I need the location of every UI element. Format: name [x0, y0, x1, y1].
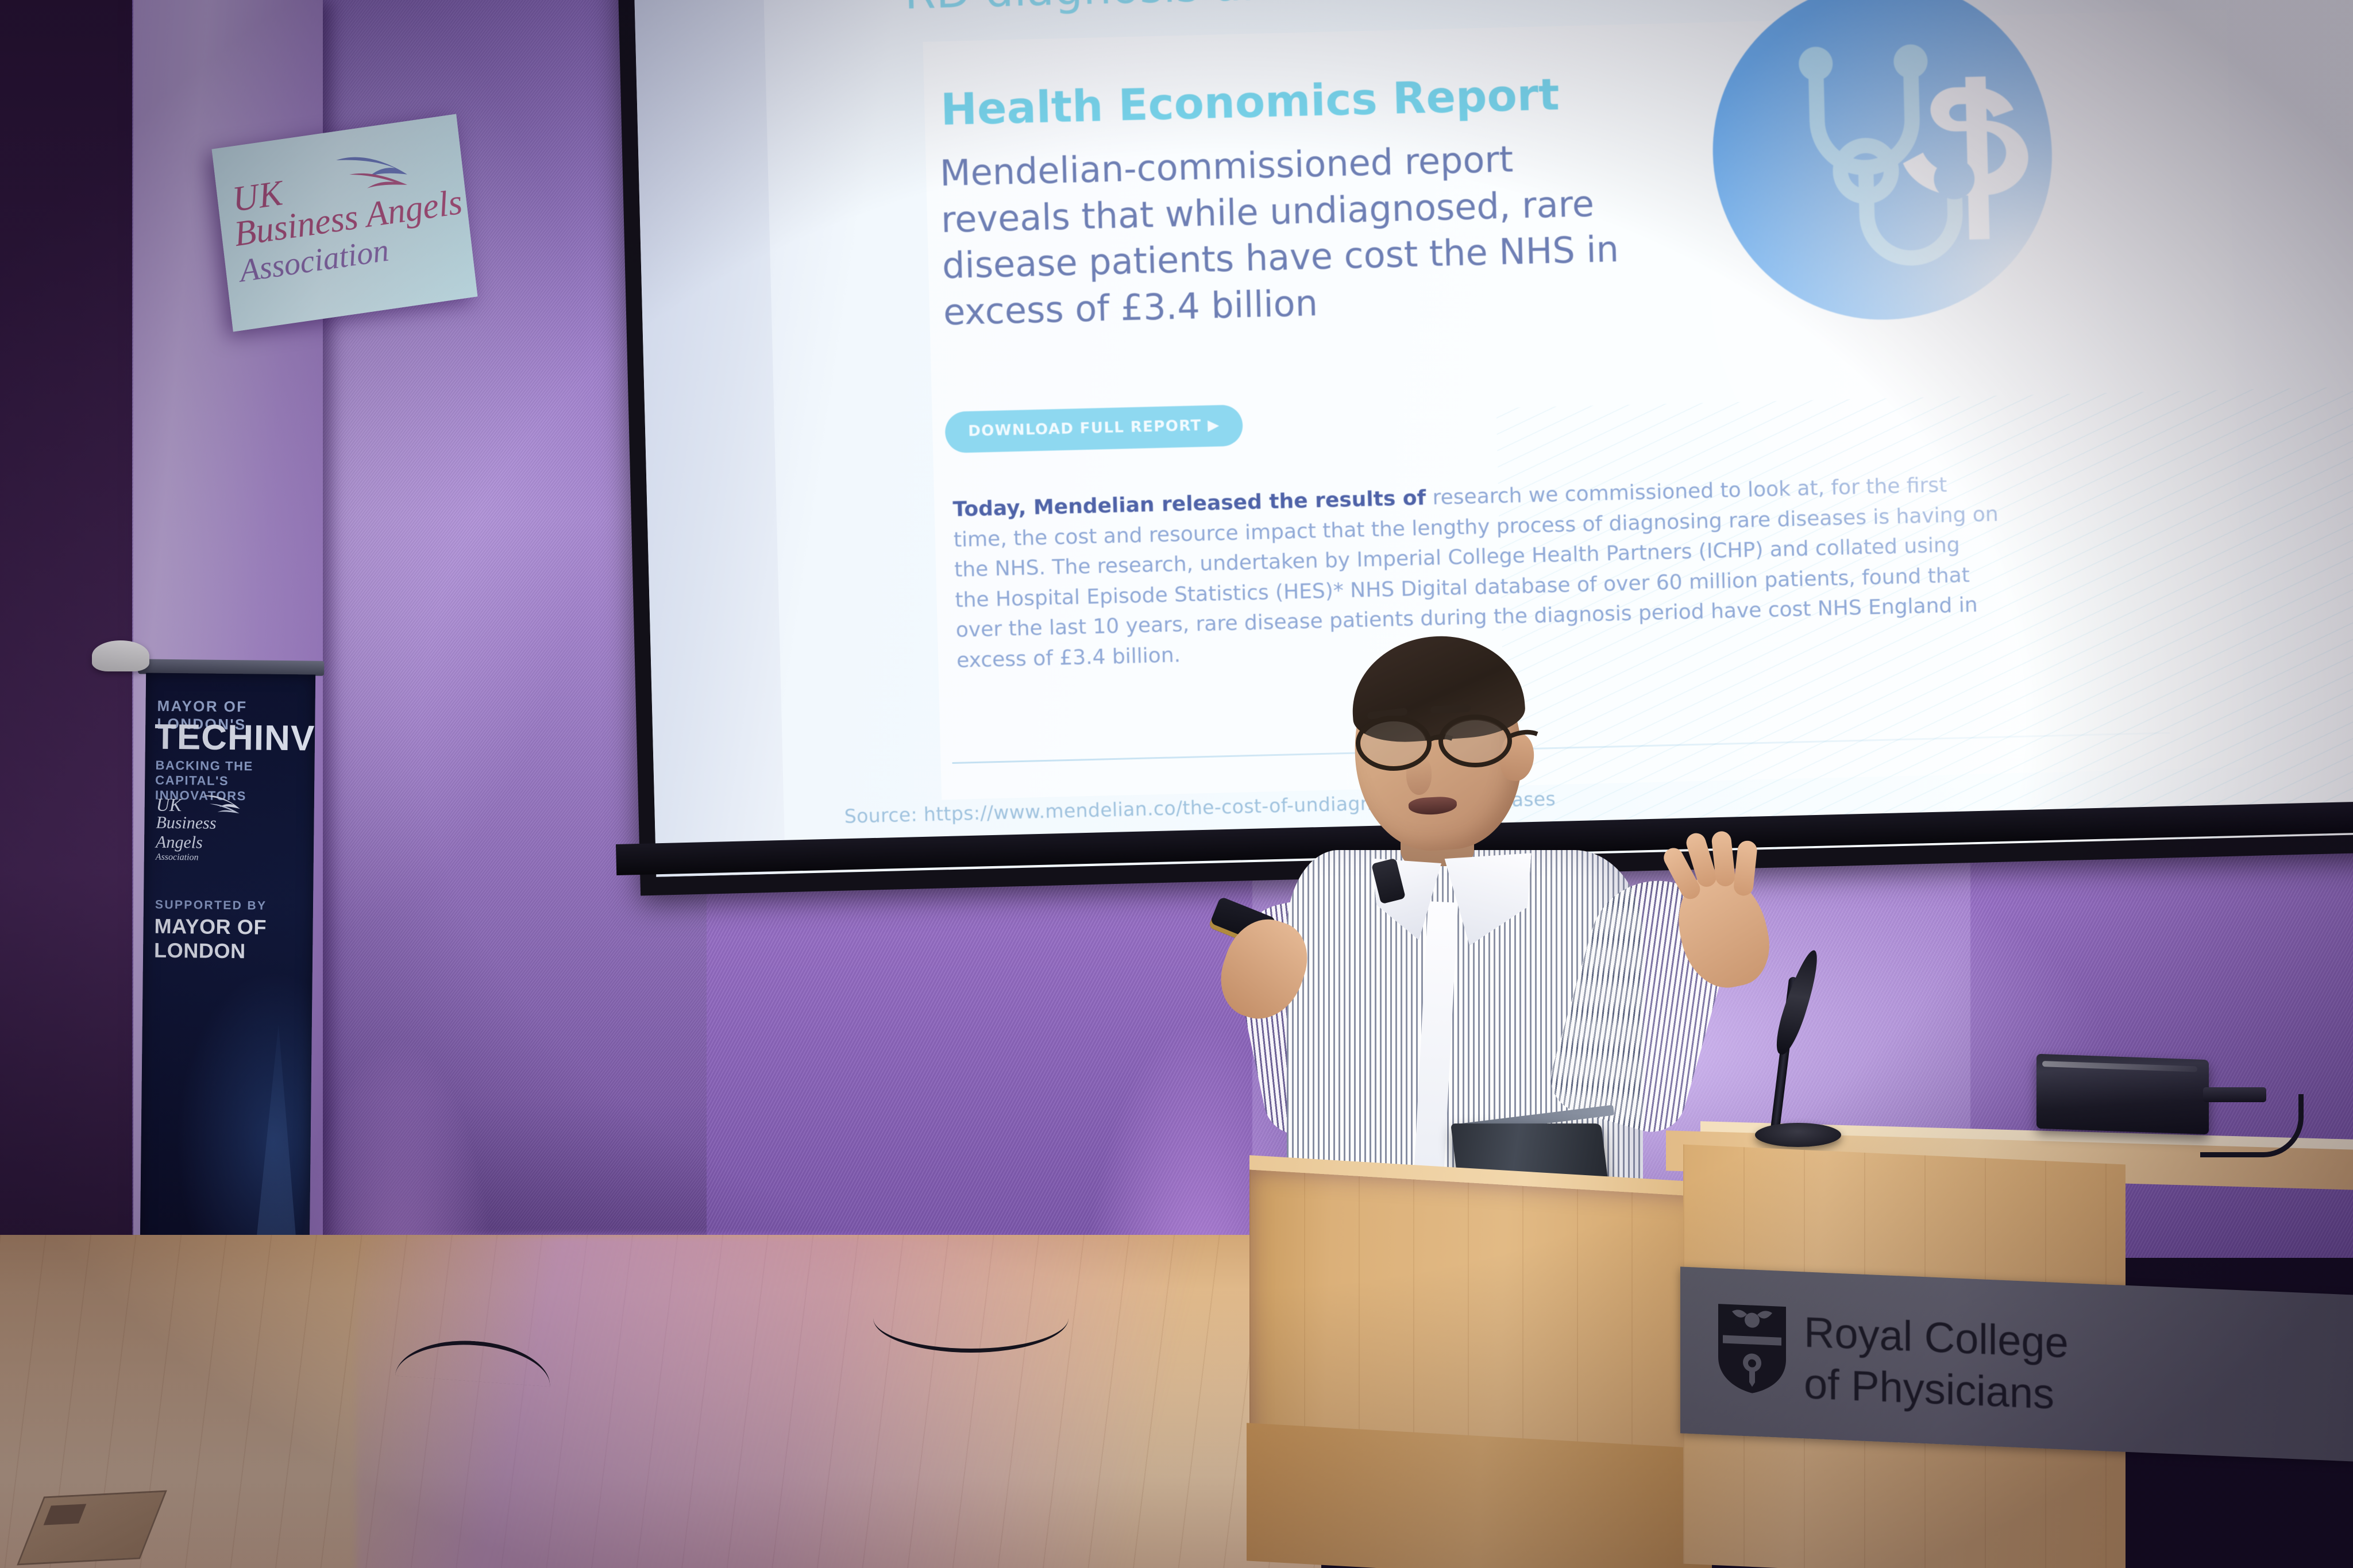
slide-title: RD diagnosis amounts to: [904, 0, 1473, 20]
microphone-base: [1755, 1123, 1841, 1147]
cta-label: DOWNLOAD FULL REPORT: [968, 417, 1202, 440]
banner-logo-line-2: Business Angels: [156, 813, 265, 853]
body-copy-bold: Today, Mendelian released the results of: [952, 486, 1426, 521]
smoke-detector: [92, 640, 149, 671]
screen-shadow-band: [634, 0, 786, 877]
lectern-lower-panel: [1247, 1423, 1712, 1568]
download-full-report-button[interactable]: DOWNLOAD FULL REPORT ▶: [944, 404, 1243, 453]
banner-artwork: MAYOR OF LONDON'S TECHINVEST BACKING THE…: [139, 673, 315, 1323]
floor-purple-reflection: [356, 1235, 1218, 1568]
av-box-cable: [2200, 1094, 2304, 1157]
venue-sign-line-1: Royal College: [1804, 1307, 2069, 1367]
banner-ukbaa-logo: UK Business Angels Association: [156, 797, 265, 864]
heraldic-shield-crest-icon: [1715, 1301, 1789, 1396]
chevron-right-icon: ▶: [1208, 416, 1220, 434]
conference-presentation-photo: RD diagnosis amounts to Health Economics…: [0, 0, 2353, 1568]
av-receiver-box: [2036, 1054, 2209, 1134]
banner-title: TECHINVEST: [155, 717, 316, 760]
banner-supported-label: SUPPORTED BY: [155, 898, 267, 913]
royal-college-of-physicians-sign: Royal College of Physicians: [1680, 1266, 2353, 1461]
ukbaa-wall-sign: UK Business Angels Association: [212, 114, 478, 331]
eyeglasses-icon: [1349, 712, 1538, 775]
venue-sign-line-2: of Physicians: [1804, 1359, 2054, 1418]
banner-logo-line-3: Association: [156, 852, 265, 864]
banner-supporter: MAYOR OF LONDON: [154, 914, 313, 964]
angel-wing-icon: [201, 791, 246, 820]
